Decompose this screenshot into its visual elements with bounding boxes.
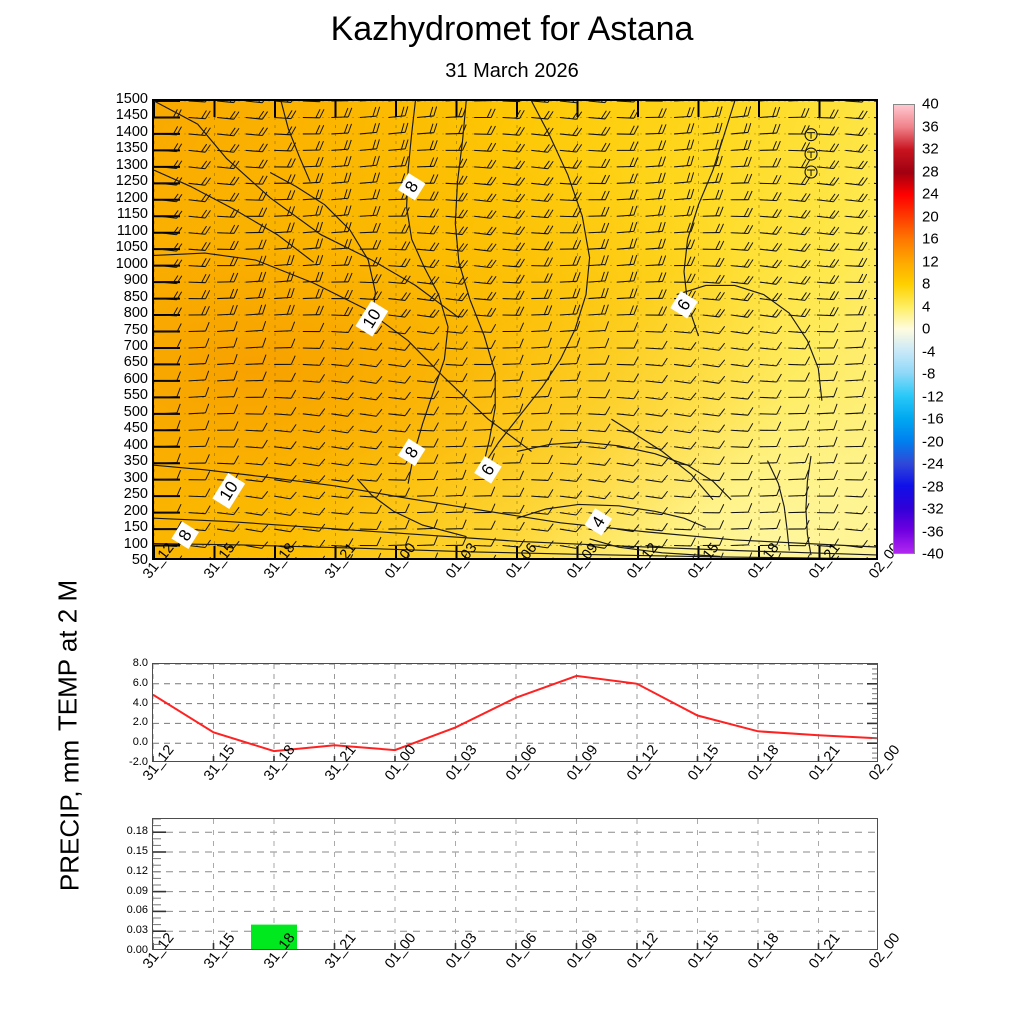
colorbar-tick-label: -12 xyxy=(922,388,944,405)
page-subtitle: 31 March 2026 xyxy=(0,60,1024,83)
precip-chart-x-axis: 31_1231_1531_1831_2101_0001_0301_0601_09… xyxy=(152,956,878,1006)
temp-chart-y-axis: 8.06.04.02.00.0-2.0 xyxy=(100,663,148,762)
colorbar-tick-label: 16 xyxy=(922,231,939,248)
height-tick-label: 1000 xyxy=(116,256,148,272)
temp-tick-label: 0.0 xyxy=(133,736,148,748)
colorbar-tick-label: -24 xyxy=(922,456,944,473)
temp-tick-label: 2.0 xyxy=(133,716,148,728)
precip-tick-label: 0.15 xyxy=(127,845,148,857)
height-tick-label: 100 xyxy=(124,536,148,552)
colorbar-tick-label: -28 xyxy=(922,478,944,495)
contour-label: 8 xyxy=(398,439,426,467)
height-tick-label: 1300 xyxy=(116,157,148,173)
height-tick-label: 850 xyxy=(124,289,148,305)
precip-tick-label: 0.18 xyxy=(127,825,148,837)
height-tick-label: 350 xyxy=(124,453,148,469)
precip-axis-title: PRECIP, mm xyxy=(55,711,86,921)
height-tick-label: 550 xyxy=(124,387,148,403)
height-tick-label: 150 xyxy=(124,519,148,535)
colorbar-tick-label: -8 xyxy=(922,366,935,383)
colorbar xyxy=(893,104,915,554)
colorbar-tick-label: -20 xyxy=(922,433,944,450)
precip-tick-label: 0.09 xyxy=(127,885,148,897)
colorbar-tick-label: 32 xyxy=(922,141,939,158)
main-chart-y-axis: 1500145014001350130012501200115011001050… xyxy=(96,99,148,560)
height-tick-label: 1400 xyxy=(116,124,148,140)
precip-chart-y-axis: 0.180.150.120.090.060.030.00 xyxy=(96,818,148,950)
height-tick-label: 1150 xyxy=(117,206,148,222)
contour-and-barbs-layer: 8106861048 xyxy=(154,101,878,560)
main-contour-chart[interactable]: 8106861048 xyxy=(152,99,878,560)
height-tick-label: 1100 xyxy=(117,223,148,239)
height-tick-label: 1050 xyxy=(116,239,148,255)
colorbar-tick-label: 40 xyxy=(922,96,939,113)
height-tick-label: 1250 xyxy=(116,173,148,189)
height-tick-label: 400 xyxy=(124,437,148,453)
main-chart-x-axis: 31_1231_1531_1831_2101_0001_0301_0601_09… xyxy=(152,566,878,626)
contour-label: 10 xyxy=(212,473,245,509)
temp-tick-label: 6.0 xyxy=(133,677,148,689)
colorbar-tick-label: 12 xyxy=(922,253,939,270)
height-tick-label: 1500 xyxy=(116,91,148,107)
height-tick-label: 1450 xyxy=(116,107,148,123)
colorbar-tick-label: -36 xyxy=(922,523,944,540)
height-tick-label: 200 xyxy=(124,503,148,519)
colorbar-tick-label: 28 xyxy=(922,163,939,180)
temp-chart-x-axis: 31_1231_1531_1831_2101_0001_0301_0601_09… xyxy=(152,768,878,818)
colorbar-tick-label: 4 xyxy=(922,298,930,315)
height-tick-label: 500 xyxy=(124,404,148,420)
colorbar-tick-label: -16 xyxy=(922,411,944,428)
temp-tick-label: 8.0 xyxy=(133,657,148,669)
height-tick-label: 700 xyxy=(124,338,148,354)
height-tick-label: 300 xyxy=(124,470,148,486)
height-tick-label: 650 xyxy=(124,354,148,370)
page-title: Kazhydromet for Astana xyxy=(0,10,1024,49)
colorbar-tick-label: -4 xyxy=(922,343,935,360)
height-tick-label: 450 xyxy=(124,420,148,436)
height-tick-label: 900 xyxy=(124,272,148,288)
colorbar-tick-label: -40 xyxy=(922,546,944,563)
colorbar-tick-label: 20 xyxy=(922,208,939,225)
height-tick-label: 250 xyxy=(124,486,148,502)
colorbar-tick-label: -32 xyxy=(922,501,944,518)
precip-tick-label: 0.06 xyxy=(127,904,148,916)
height-tick-label: 600 xyxy=(124,371,148,387)
height-tick-label: 1200 xyxy=(116,190,148,206)
contour-label: 8 xyxy=(398,173,426,201)
precip-tick-label: 0.12 xyxy=(127,865,148,877)
height-tick-label: 800 xyxy=(124,305,148,321)
calm-wind-icon xyxy=(805,148,817,160)
colorbar-tick-label: 8 xyxy=(922,276,930,293)
calm-wind-icon xyxy=(805,129,817,141)
colorbar-ticks: 4036322824201612840-4-8-12-16-20-24-28-3… xyxy=(922,104,982,554)
colorbar-tick-label: 24 xyxy=(922,186,939,203)
colorbar-tick-label: 0 xyxy=(922,321,930,338)
colorbar-tick-label: 36 xyxy=(922,118,939,135)
temp-tick-label: 4.0 xyxy=(133,697,148,709)
precip-tick-label: 0.03 xyxy=(127,924,148,936)
calm-wind-icon xyxy=(805,166,817,178)
height-tick-label: 750 xyxy=(124,322,148,338)
height-tick-label: 1350 xyxy=(116,140,148,156)
